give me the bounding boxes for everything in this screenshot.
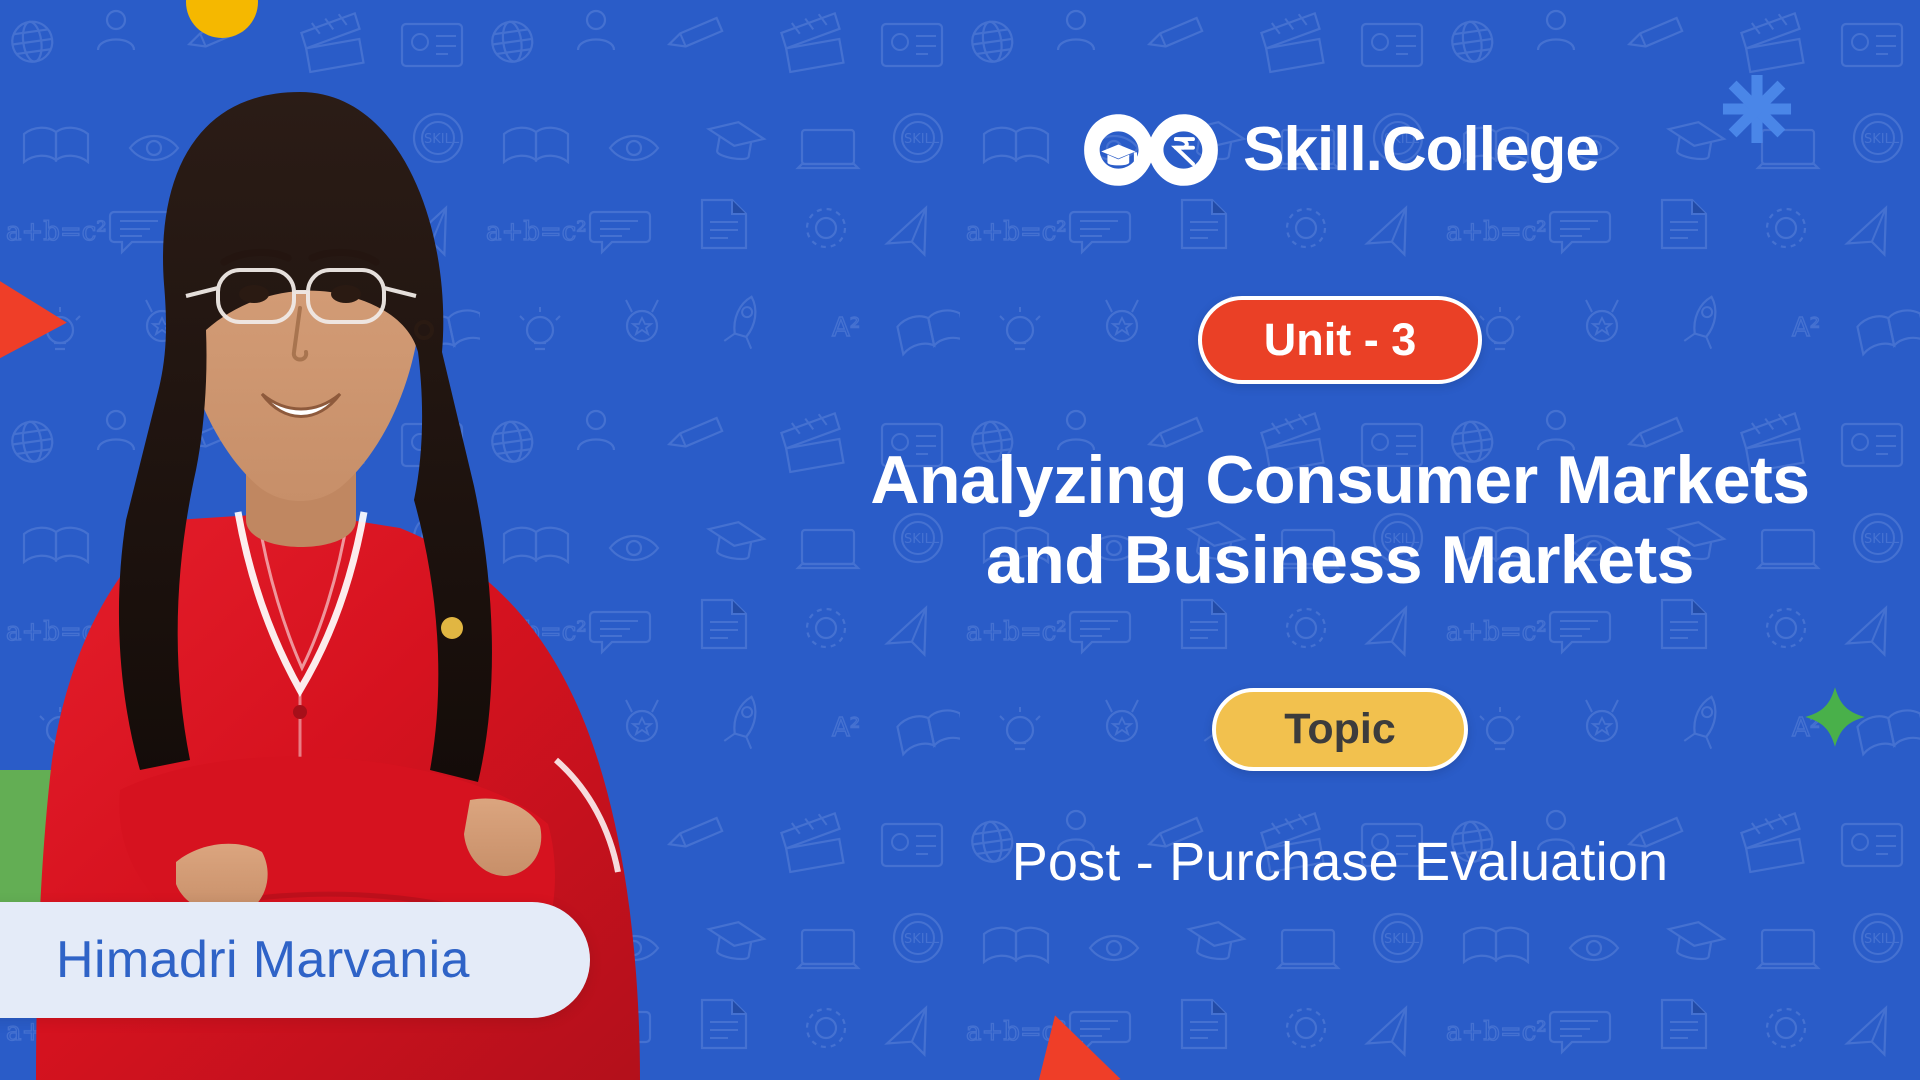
topic-name: Post - Purchase Evaluation <box>1012 831 1669 893</box>
brand-logo[interactable]: Skill.College <box>1081 108 1599 192</box>
slide-content-column: Skill.College Unit - 3 Analyzing Consume… <box>760 0 1920 1080</box>
course-title-line-2: and Business Markets <box>870 520 1809 600</box>
brand-wordmark: Skill.College <box>1243 119 1599 181</box>
yellow-circle-decoration <box>186 0 258 38</box>
presenter-name-plate: Himadri Marvania <box>0 902 590 1018</box>
unit-badge[interactable]: Unit - 3 <box>1198 296 1483 384</box>
topic-badge[interactable]: Topic <box>1212 688 1467 771</box>
presenter-name: Himadri Marvania <box>56 930 470 990</box>
course-title: Analyzing Consumer Markets and Business … <box>870 440 1809 600</box>
infinity-graduation-rupee-icon <box>1081 108 1221 192</box>
slide-canvas: A² a+b=c² SKILL <box>0 0 1920 1080</box>
course-title-line-1: Analyzing Consumer Markets <box>870 440 1809 520</box>
